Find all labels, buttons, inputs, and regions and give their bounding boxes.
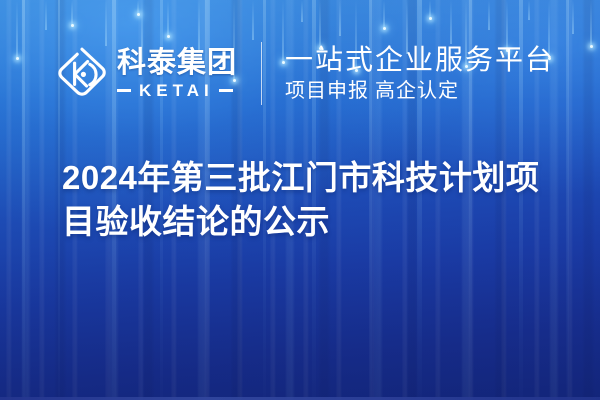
header-divider — [261, 42, 262, 105]
dash-left-icon — [117, 89, 131, 92]
ketai-diamond-k-logo-icon — [56, 46, 108, 100]
light-particle — [428, 0, 432, 20]
promo-banner: 科泰集团 KETAI 一站式企业服务平台 项目申报 高企认定 2024年第三批江… — [0, 0, 600, 400]
particle-tail — [168, 0, 169, 36]
light-particle — [527, 0, 531, 22]
particle-tail — [302, 0, 303, 22]
tagline-block: 一站式企业服务平台 项目申报 高企认定 — [285, 44, 555, 103]
particle-head-icon — [137, 13, 140, 16]
particle-tail — [46, 0, 47, 30]
particle-tail — [430, 0, 431, 18]
logo-wordmark: 科泰集团 KETAI — [117, 47, 237, 100]
particle-head-icon — [383, 27, 386, 30]
tagline-sub: 项目申报 高企认定 — [285, 79, 555, 103]
brand-name-en: KETAI — [138, 81, 214, 100]
dash-right-icon — [219, 89, 233, 92]
light-particle — [338, 0, 342, 38]
light-particle — [300, 0, 304, 24]
banner-title: 2024年第三批江门市科技计划项目验收结论的公示 — [62, 156, 562, 244]
particle-tail — [253, 0, 254, 40]
brand-name-en-row: KETAI — [117, 81, 237, 100]
banner-header: 科泰集团 KETAI 一站式企业服务平台 项目申报 高企认定 — [0, 36, 600, 110]
light-particle — [136, 0, 140, 16]
light-particle — [166, 0, 170, 38]
particle-tail — [72, 0, 73, 25]
light-particle — [70, 0, 74, 27]
particle-tail — [573, 0, 574, 34]
particle-tail — [529, 0, 530, 20]
brand-name-cn: 科泰集团 — [117, 47, 237, 79]
particle-head-icon — [71, 24, 74, 27]
particle-tail — [340, 0, 341, 36]
particle-tail — [384, 0, 385, 28]
light-particle — [382, 0, 386, 30]
light-particle — [487, 0, 491, 32]
light-particle — [571, 0, 575, 36]
light-particle — [44, 0, 48, 32]
tagline-main: 一站式企业服务平台 — [285, 44, 555, 76]
particle-tail — [489, 0, 490, 30]
ketai-logo[interactable]: 科泰集团 KETAI — [56, 46, 237, 100]
particle-tail — [138, 0, 139, 14]
particle-head-icon — [429, 17, 432, 20]
